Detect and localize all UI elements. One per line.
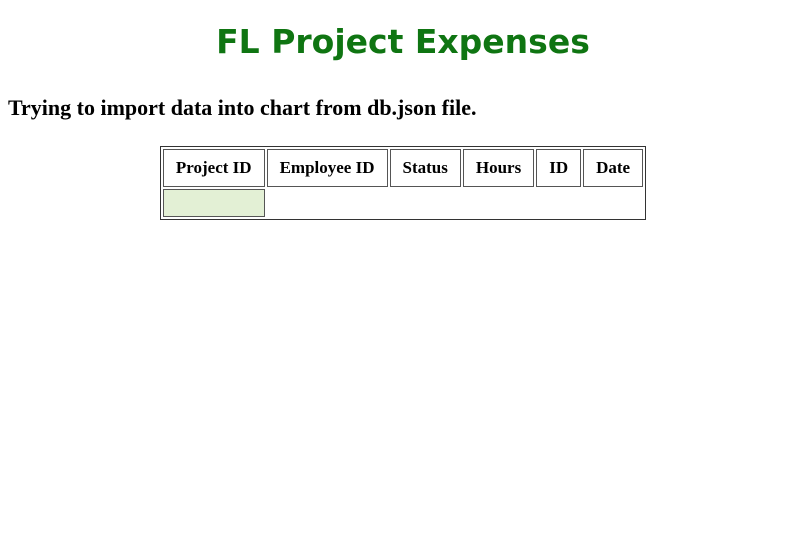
project-expenses-table: Project ID Employee ID Status Hours ID D… [160,146,646,220]
page-subtitle: Trying to import data into chart from db… [8,95,477,121]
page-root: FL Project Expenses Trying to import dat… [0,0,806,551]
table-body [163,189,643,217]
table-row [163,189,643,217]
column-header-status[interactable]: Status [390,149,461,187]
column-header-hours[interactable]: Hours [463,149,534,187]
cell-status-empty [390,189,461,217]
column-header-date[interactable]: Date [583,149,643,187]
cell-project-id[interactable] [163,189,265,217]
column-header-id[interactable]: ID [536,149,581,187]
table-header-row: Project ID Employee ID Status Hours ID D… [163,149,643,187]
column-header-project-id[interactable]: Project ID [163,149,265,187]
table-head: Project ID Employee ID Status Hours ID D… [163,149,643,187]
cell-hours-empty [463,189,534,217]
column-header-employee-id[interactable]: Employee ID [267,149,388,187]
cell-date-empty [583,189,643,217]
cell-id-empty [536,189,581,217]
cell-employee-id-empty [267,189,388,217]
page-title: FL Project Expenses [0,22,806,62]
table-container: Project ID Employee ID Status Hours ID D… [0,146,806,220]
